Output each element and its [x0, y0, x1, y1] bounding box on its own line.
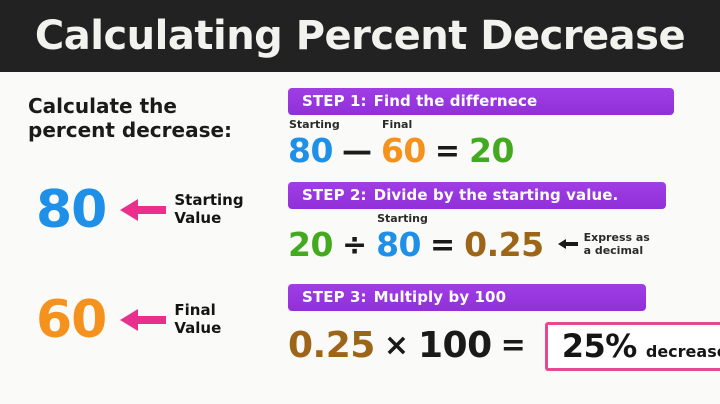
step-1-block: STEP 1:Find the differnece Starting 80 —…: [288, 88, 720, 167]
step-3-operand-2: 100: [418, 328, 492, 364]
final-value-label-line-1: Final: [174, 302, 221, 320]
arrow-left-icon: [120, 307, 166, 333]
starting-value-number: 80: [36, 184, 106, 236]
step-3-operator-multiply: ×: [384, 331, 409, 361]
step-1-result: 20: [469, 134, 514, 167]
prompt-text: Calculate the percent decrease:: [28, 94, 258, 143]
final-value-number: 60: [36, 294, 106, 346]
step-2-result: 0.25: [464, 228, 543, 261]
step-1-operand-1-value: 80: [288, 131, 333, 170]
step-1-title: Find the differnece: [374, 92, 538, 110]
step-3-block: STEP 3:Multiply by 100 0.25 × 100 = 25% …: [288, 284, 720, 371]
starting-value-label-line-2: Value: [174, 210, 243, 228]
starting-value-label: Starting Value: [174, 192, 243, 227]
final-value-label: Final Value: [174, 302, 221, 337]
step-2-number-label: STEP 2:: [302, 186, 367, 204]
step-3-equals-sign: =: [501, 331, 526, 361]
step-3-title: Multiply by 100: [374, 288, 507, 306]
final-answer-word: decrease: [646, 344, 720, 360]
step-1-banner: STEP 1:Find the differnece: [288, 88, 674, 115]
prompt-line-2: percent decrease:: [28, 118, 258, 142]
step-2-note: Express as a decimal: [558, 231, 650, 259]
step-2-equation: 20 ÷ Starting 80 = 0.25 Express as a dec…: [288, 215, 720, 261]
step-1-operand-1-caption: Starting: [289, 119, 340, 130]
step-2-note-text: Express as a decimal: [584, 231, 650, 259]
step-2-banner: STEP 2:Divide by the starting value.: [288, 182, 666, 209]
step-1-number-label: STEP 1:: [302, 92, 367, 110]
arrow-left-icon: [120, 197, 166, 223]
step-2-operand-2-caption: Starting: [377, 213, 428, 224]
step-2-operand-2-value: 80: [376, 225, 421, 264]
step-2-note-line-1: Express as: [584, 231, 650, 245]
step-3-banner: STEP 3:Multiply by 100: [288, 284, 646, 311]
final-value-row: 60 Final Value: [36, 294, 221, 346]
step-1-operator-minus: —: [342, 137, 372, 167]
final-value-label-line-2: Value: [174, 320, 221, 338]
step-2-block: STEP 2:Divide by the starting value. 20 …: [288, 182, 720, 261]
step-2-operand-1-value: 20: [288, 225, 333, 264]
steps-panel: STEP 1:Find the differnece Starting 80 —…: [288, 72, 720, 404]
title-bar: Calculating Percent Decrease: [0, 0, 720, 72]
page-title: Calculating Percent Decrease: [35, 16, 685, 56]
final-answer-box: 25% decrease: [545, 322, 720, 371]
step-1-operand-2-value: 60: [381, 131, 426, 170]
step-2-operand-2: Starting 80: [376, 228, 421, 261]
step-1-equals-sign: =: [435, 137, 460, 167]
step-2-operand-1: 20: [288, 228, 333, 261]
prompt-line-1: Calculate the: [28, 94, 258, 118]
step-1-operand-2-caption: Final: [382, 119, 412, 130]
step-2-equals-sign: =: [430, 231, 455, 261]
step-1-equation: Starting 80 — Final 60 = 20: [288, 121, 720, 167]
starting-value-label-line-1: Starting: [174, 192, 243, 210]
problem-panel: Calculate the percent decrease: 80 Start…: [0, 72, 280, 404]
step-3-operand-1: 0.25: [288, 328, 375, 364]
final-answer-percent: 25%: [562, 330, 637, 362]
step-1-operand-2: Final 60: [381, 134, 426, 167]
step-2-title: Divide by the starting value.: [374, 186, 619, 204]
step-2-note-line-2: a decimal: [584, 244, 650, 258]
step-3-number-label: STEP 3:: [302, 288, 367, 306]
starting-value-row: 80 Starting Value: [36, 184, 244, 236]
step-3-equation: 0.25 × 100 = 25% decrease: [288, 321, 720, 371]
arrow-left-small-icon: [558, 238, 578, 250]
step-2-operator-divide: ÷: [342, 231, 367, 261]
step-1-operand-1: Starting 80: [288, 134, 333, 167]
